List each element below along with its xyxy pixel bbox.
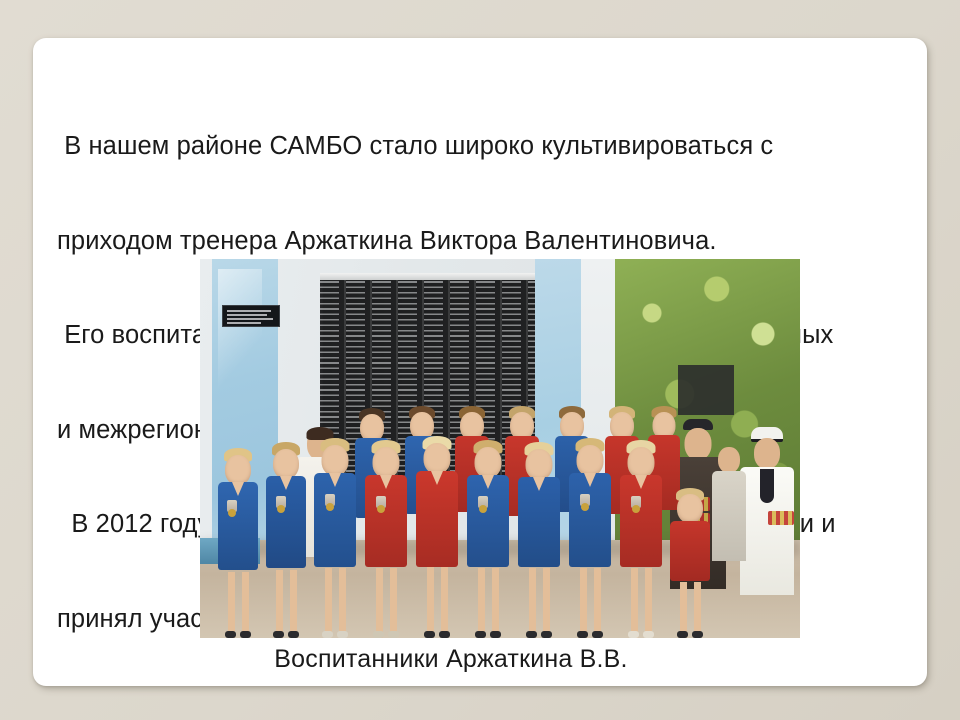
list-item <box>670 488 710 638</box>
list-item <box>365 440 407 638</box>
photo-caption: Воспитанники Аржаткина В.В. <box>33 645 927 674</box>
group-photo <box>200 259 800 638</box>
list-item <box>467 440 509 638</box>
veteran-naval-uniform <box>740 427 794 602</box>
text-line-1: В нашем районе САМБО стало широко культи… <box>57 131 909 163</box>
medal <box>631 496 641 508</box>
caption-text: Воспитанники Аржаткина В.В. <box>274 645 685 674</box>
medal <box>376 496 386 508</box>
medal <box>227 500 237 512</box>
medal <box>325 494 335 506</box>
text-line-2: приходом тренера Аржаткина Виктора Вален… <box>57 226 909 258</box>
list-item <box>314 438 356 638</box>
slide-card: В нашем районе САМБО стало широко культи… <box>33 38 927 686</box>
crowd-of-children <box>200 259 800 638</box>
list-item <box>620 440 662 638</box>
list-item <box>518 442 560 638</box>
medal <box>478 496 488 508</box>
list-item <box>266 442 306 638</box>
medal <box>580 494 590 506</box>
naval-medals <box>768 511 794 525</box>
list-item <box>218 448 258 638</box>
slide-stage: В нашем районе САМБО стало широко культи… <box>0 0 960 720</box>
medal <box>276 496 286 508</box>
woman-in-crowd <box>712 447 746 567</box>
list-item <box>569 438 611 638</box>
photo-content <box>200 259 800 638</box>
list-item <box>416 436 458 638</box>
